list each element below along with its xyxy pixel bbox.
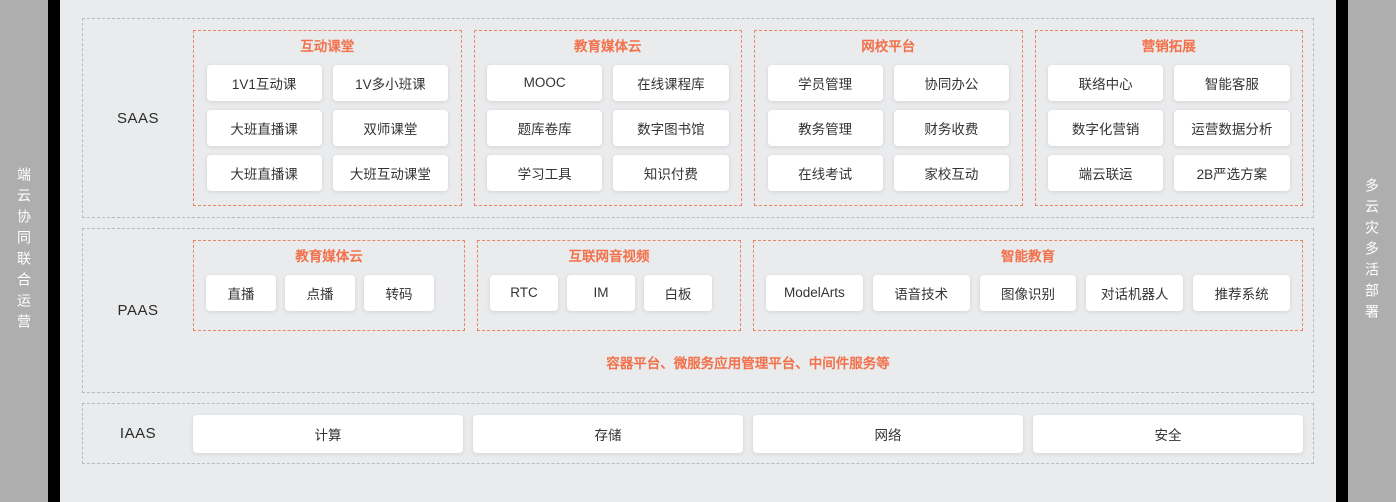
tile-item[interactable]: 对话机器人	[1086, 275, 1183, 311]
tile-item[interactable]: 图像识别	[980, 275, 1077, 311]
tile-item[interactable]: 双师课堂	[333, 110, 448, 146]
tile-item[interactable]: 数字图书馆	[613, 110, 728, 146]
tile-item[interactable]: IM	[567, 275, 635, 311]
tile-item[interactable]: 大班互动课堂	[333, 155, 448, 191]
tile-item[interactable]: 家校互动	[894, 155, 1009, 191]
tile-item[interactable]: RTC	[490, 275, 558, 311]
tile-item[interactable]: ModelArts	[766, 275, 863, 311]
group-tiles: MOOC 在线课程库 题库卷库 数字图书馆 学习工具 知识付费	[487, 65, 730, 194]
left-rail: 端云协同联合运营	[0, 0, 48, 502]
tile-item[interactable]: 点播	[285, 275, 355, 311]
paas-footnote: 容器平台、微服务应用管理平台、中间件服务等	[193, 331, 1303, 392]
group-title: 教育媒体云	[487, 38, 730, 56]
layer-label-iaas: IAAS	[83, 404, 193, 463]
layer-body-saas: 互动课堂 1V1互动课 1V多小班课 大班直播课 双师课堂 大班直播课 大班互动…	[193, 19, 1313, 217]
tile-item[interactable]: 大班直播课	[207, 155, 322, 191]
layer-iaas: IAAS 计算 存储 网络 安全	[82, 403, 1314, 464]
group-title: 营销拓展	[1048, 38, 1291, 56]
tile-item[interactable]: 大班直播课	[207, 110, 322, 146]
paas-group-row: 教育媒体云 直播 点播 转码 互联网音视频 RTC IM 白板	[193, 240, 1303, 331]
group-education-media-cloud: 教育媒体云 MOOC 在线课程库 题库卷库 数字图书馆 学习工具 知识付费	[474, 30, 743, 206]
tile-item[interactable]: 安全	[1033, 415, 1303, 453]
tile-item[interactable]: 1V多小班课	[333, 65, 448, 101]
group-tiles: 学员管理 协同办公 教务管理 财务收费 在线考试 家校互动	[767, 65, 1010, 194]
tile-item[interactable]: 1V1互动课	[207, 65, 322, 101]
group-education-media-cloud-paas: 教育媒体云 直播 点播 转码	[193, 240, 465, 331]
group-online-school-platform: 网校平台 学员管理 协同办公 教务管理 财务收费 在线考试 家校互动	[754, 30, 1023, 206]
layer-paas: PAAS 教育媒体云 直播 点播 转码 互联网音视频 RTC IM	[82, 228, 1314, 393]
group-title: 互动课堂	[206, 38, 449, 56]
group-title: 教育媒体云	[206, 248, 452, 266]
tile-item[interactable]: 存储	[473, 415, 743, 453]
right-rail-label: 多云灾多活部署	[1365, 178, 1379, 325]
group-interactive-classroom: 互动课堂 1V1互动课 1V多小班课 大班直播课 双师课堂 大班直播课 大班互动…	[193, 30, 462, 206]
group-title: 智能教育	[766, 248, 1290, 266]
tile-item[interactable]: MOOC	[487, 65, 602, 101]
tile-item[interactable]: 端云联运	[1048, 155, 1163, 191]
tile-item[interactable]: 转码	[364, 275, 434, 311]
group-tiles: 直播 点播 转码	[206, 275, 452, 319]
tile-item[interactable]: 题库卷库	[487, 110, 602, 146]
right-rail-divider	[1336, 0, 1348, 502]
group-marketing-expansion: 营销拓展 联络中心 智能客服 数字化营销 运营数据分析 端云联运 2B严选方案	[1035, 30, 1304, 206]
tile-item[interactable]: 语音技术	[873, 275, 970, 311]
group-intelligent-education: 智能教育 ModelArts 语音技术 图像识别 对话机器人 推荐系统	[753, 240, 1303, 331]
tile-item[interactable]: 推荐系统	[1193, 275, 1290, 311]
tile-item[interactable]: 数字化营销	[1048, 110, 1163, 146]
tile-item[interactable]: 直播	[206, 275, 276, 311]
layer-label-paas: PAAS	[83, 229, 193, 392]
tile-item[interactable]: 在线课程库	[613, 65, 728, 101]
layer-saas: SAAS 互动课堂 1V1互动课 1V多小班课 大班直播课 双师课堂 大班直播课…	[82, 18, 1314, 218]
tile-item[interactable]: 计算	[193, 415, 463, 453]
group-tiles: RTC IM 白板	[490, 275, 728, 319]
tile-item[interactable]: 协同办公	[894, 65, 1009, 101]
group-tiles: 1V1互动课 1V多小班课 大班直播课 双师课堂 大班直播课 大班互动课堂	[206, 65, 449, 194]
tile-item[interactable]: 白板	[644, 275, 712, 311]
layer-body-paas: 教育媒体云 直播 点播 转码 互联网音视频 RTC IM 白板	[193, 229, 1313, 392]
layer-body-iaas: 计算 存储 网络 安全	[193, 404, 1313, 463]
architecture-diagram: SAAS 互动课堂 1V1互动课 1V多小班课 大班直播课 双师课堂 大班直播课…	[60, 0, 1336, 502]
left-rail-label: 端云协同联合运营	[17, 167, 31, 335]
left-rail-divider	[48, 0, 60, 502]
tile-item[interactable]: 智能客服	[1174, 65, 1289, 101]
group-tiles: 联络中心 智能客服 数字化营销 运营数据分析 端云联运 2B严选方案	[1048, 65, 1291, 194]
group-title: 网校平台	[767, 38, 1010, 56]
tile-item[interactable]: 知识付费	[613, 155, 728, 191]
tile-item[interactable]: 联络中心	[1048, 65, 1163, 101]
tile-item[interactable]: 2B严选方案	[1174, 155, 1289, 191]
group-internet-audio-video: 互联网音视频 RTC IM 白板	[477, 240, 741, 331]
tile-item[interactable]: 在线考试	[768, 155, 883, 191]
tile-item[interactable]: 学习工具	[487, 155, 602, 191]
right-rail: 多云灾多活部署	[1348, 0, 1396, 502]
group-title: 互联网音视频	[490, 248, 728, 266]
layer-label-saas: SAAS	[83, 19, 193, 217]
tile-item[interactable]: 运营数据分析	[1174, 110, 1289, 146]
tile-item[interactable]: 学员管理	[768, 65, 883, 101]
tile-item[interactable]: 教务管理	[768, 110, 883, 146]
tile-item[interactable]: 网络	[753, 415, 1023, 453]
tile-item[interactable]: 财务收费	[894, 110, 1009, 146]
group-tiles: ModelArts 语音技术 图像识别 对话机器人 推荐系统	[766, 275, 1290, 319]
